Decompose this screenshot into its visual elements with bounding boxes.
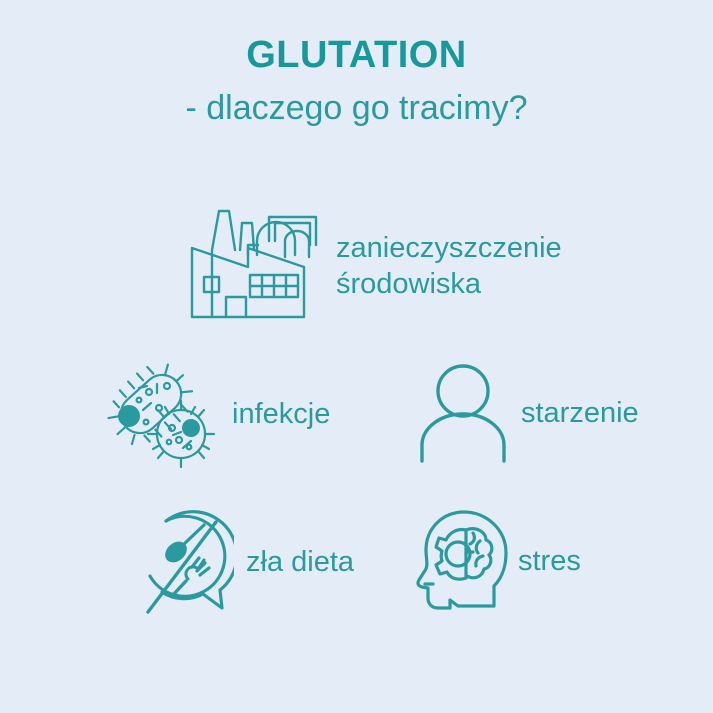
person-icon xyxy=(416,363,511,463)
no-food-icon xyxy=(142,508,234,616)
page-subtitle: - dlaczego go tracimy? xyxy=(0,88,713,129)
item-infection-label: infekcje xyxy=(232,396,330,432)
item-pollution: zanieczyszczenie środowiska xyxy=(188,205,562,327)
factory-icon xyxy=(188,205,320,327)
title-block: GLUTATION - dlaczego go tracimy? xyxy=(0,34,713,128)
item-infection: infekcje xyxy=(103,360,330,468)
item-diet: zła dieta xyxy=(142,508,354,616)
item-aging-label: starzenie xyxy=(521,395,639,431)
item-stress-label: stres xyxy=(518,543,581,579)
item-pollution-label: zanieczyszczenie środowiska xyxy=(336,230,562,303)
page-title: GLUTATION xyxy=(0,34,713,78)
infographic-poster: GLUTATION - dlaczego go tracimy? xyxy=(0,0,713,713)
head-brain-gear-icon xyxy=(416,508,508,614)
bacteria-icon xyxy=(103,360,218,468)
item-aging: starzenie xyxy=(416,363,639,463)
item-stress: stres xyxy=(416,508,581,614)
item-diet-label: zła dieta xyxy=(246,544,354,580)
